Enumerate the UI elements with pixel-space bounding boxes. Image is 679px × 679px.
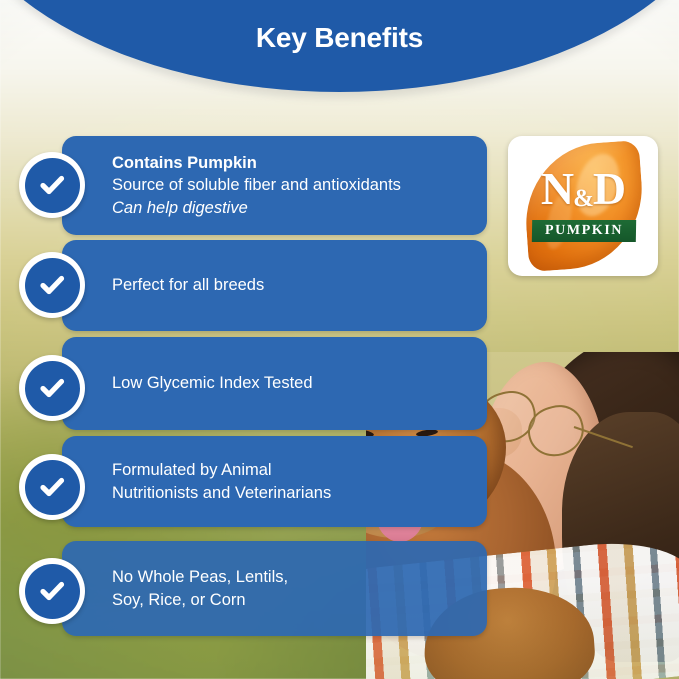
benefit-text-2: Perfect for all breeds <box>112 274 278 297</box>
benefit-text-1: Contains Pumpkin Source of soluble fiber… <box>112 152 415 220</box>
benefit-card-3[interactable]: Low Glycemic Index Tested <box>62 337 487 430</box>
benefit-text-3: Low Glycemic Index Tested <box>112 372 327 395</box>
benefit-line: Soy, Rice, or Corn <box>112 589 288 612</box>
check-disc <box>25 564 80 619</box>
check-disc <box>25 158 80 213</box>
benefit-line: Nutritionists and Veterinarians <box>112 482 331 505</box>
check-disc <box>25 258 80 313</box>
logo-letter-d: D <box>593 163 625 214</box>
benefit-card-5[interactable]: No Whole Peas, Lentils, Soy, Rice, or Co… <box>62 541 487 636</box>
benefit-line: No Whole Peas, Lentils, <box>112 566 288 589</box>
nd-pumpkin-logo: N&D PUMPKIN <box>508 136 658 276</box>
logo-ampersand: & <box>573 185 593 212</box>
check-circle-icon <box>19 558 85 624</box>
check-disc <box>25 460 80 515</box>
benefit-line: Can help digestive <box>112 197 401 220</box>
benefit-line: Source of soluble fiber and antioxidants <box>112 174 401 197</box>
logo-wordmark: N&D <box>508 164 658 224</box>
benefit-line: Low Glycemic Index Tested <box>112 372 313 395</box>
check-circle-icon <box>19 454 85 520</box>
check-circle-icon <box>19 152 85 218</box>
benefit-card-4[interactable]: Formulated by Animal Nutritionists and V… <box>62 436 487 527</box>
benefit-line: Perfect for all breeds <box>112 274 264 297</box>
benefit-text-4: Formulated by Animal Nutritionists and V… <box>112 459 345 504</box>
logo-variant-band: PUMPKIN <box>532 220 636 242</box>
benefit-card-1[interactable]: Contains Pumpkin Source of soluble fiber… <box>62 136 487 235</box>
check-disc <box>25 361 80 416</box>
key-benefits-infographic: Key Benefits Contains Pumpkin Source of … <box>0 0 679 679</box>
benefit-card-2[interactable]: Perfect for all breeds <box>62 240 487 331</box>
page-title: Key Benefits <box>0 22 679 54</box>
logo-variant-label: PUMPKIN <box>545 223 623 239</box>
check-circle-icon <box>19 355 85 421</box>
benefit-text-5: No Whole Peas, Lentils, Soy, Rice, or Co… <box>112 566 302 611</box>
logo-letter-n: N <box>541 163 573 214</box>
benefit-line: Contains Pumpkin <box>112 152 401 175</box>
check-circle-icon <box>19 252 85 318</box>
benefit-line: Formulated by Animal <box>112 459 331 482</box>
